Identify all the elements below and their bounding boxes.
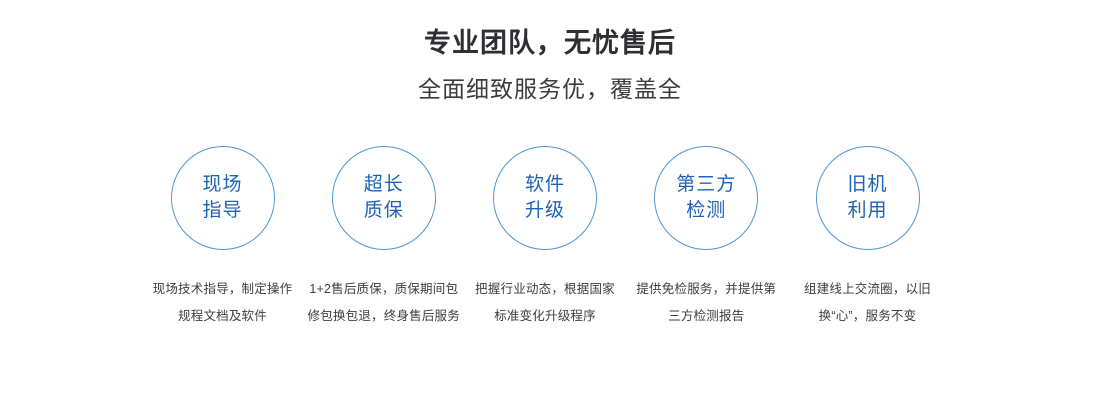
feature-item-software-upgrade[interactable]: 软件 升级 把握行业动态，根据国家 标准变化升级程序 [468,146,623,330]
feature-badge-circle[interactable]: 现场 指导 [171,146,275,250]
feature-caption-line-1: 1+2售后质保，质保期间包 [305,276,463,303]
feature-item-third-party-inspection[interactable]: 第三方 检测 提供免检服务，并提供第 三方检测报告 [629,146,784,330]
feature-caption-line-2: 三方检测报告 [627,303,785,330]
heading-block: 专业团队，无忧售后 全面细致服务优，覆盖全 [0,24,1100,106]
feature-badge-line-2: 指导 [202,198,242,224]
feature-badge-line-1: 现场 [202,172,242,198]
feature-caption: 1+2售后质保，质保期间包 修包换包退，终身售后服务 [305,276,463,330]
feature-badge-line-2: 检测 [686,198,726,224]
page-title: 专业团队，无忧售后 [0,24,1100,62]
feature-item-onsite-guidance[interactable]: 现场 指导 现场技术指导，制定操作 规程文档及软件 [145,146,300,330]
feature-badge-line-1: 软件 [525,172,565,198]
feature-item-extended-warranty[interactable]: 超长 质保 1+2售后质保，质保期间包 修包换包退，终身售后服务 [306,146,461,330]
feature-badge-line-2: 升级 [525,198,565,224]
feature-list: 现场 指导 现场技术指导，制定操作 规程文档及软件 超长 质保 1+2售后质保，… [145,146,945,330]
feature-item-trade-in[interactable]: 旧机 利用 组建线上交流圈，以旧 换“心”，服务不变 [790,146,945,330]
feature-caption-line-1: 组建线上交流圈，以旧 [789,276,947,303]
page-subtitle: 全面细致服务优，覆盖全 [0,72,1100,106]
feature-caption-line-1: 现场技术指导，制定操作 [144,276,302,303]
feature-caption: 现场技术指导，制定操作 规程文档及软件 [144,276,302,330]
feature-badge-circle[interactable]: 超长 质保 [332,146,436,250]
feature-badge-line-1: 旧机 [847,172,887,198]
feature-caption-line-2: 换“心”，服务不变 [789,303,947,330]
service-promo-page: 专业团队，无忧售后 全面细致服务优，覆盖全 现场 指导 现场技术指导，制定操作 … [0,0,1100,404]
feature-caption: 提供免检服务，并提供第 三方检测报告 [627,276,785,330]
feature-badge-line-1: 超长 [364,172,404,198]
feature-badge-circle[interactable]: 第三方 检测 [654,146,758,250]
feature-badge-line-2: 质保 [364,198,404,224]
feature-badge-circle[interactable]: 软件 升级 [493,146,597,250]
feature-badge-line-2: 利用 [847,198,887,224]
feature-caption-line-2: 规程文档及软件 [144,303,302,330]
feature-caption: 组建线上交流圈，以旧 换“心”，服务不变 [789,276,947,330]
feature-caption: 把握行业动态，根据国家 标准变化升级程序 [466,276,624,330]
feature-caption-line-1: 提供免检服务，并提供第 [627,276,785,303]
feature-caption-line-2: 修包换包退，终身售后服务 [305,303,463,330]
feature-badge-circle[interactable]: 旧机 利用 [816,146,920,250]
feature-badge-line-1: 第三方 [676,172,736,198]
feature-caption-line-2: 标准变化升级程序 [466,303,624,330]
feature-caption-line-1: 把握行业动态，根据国家 [466,276,624,303]
